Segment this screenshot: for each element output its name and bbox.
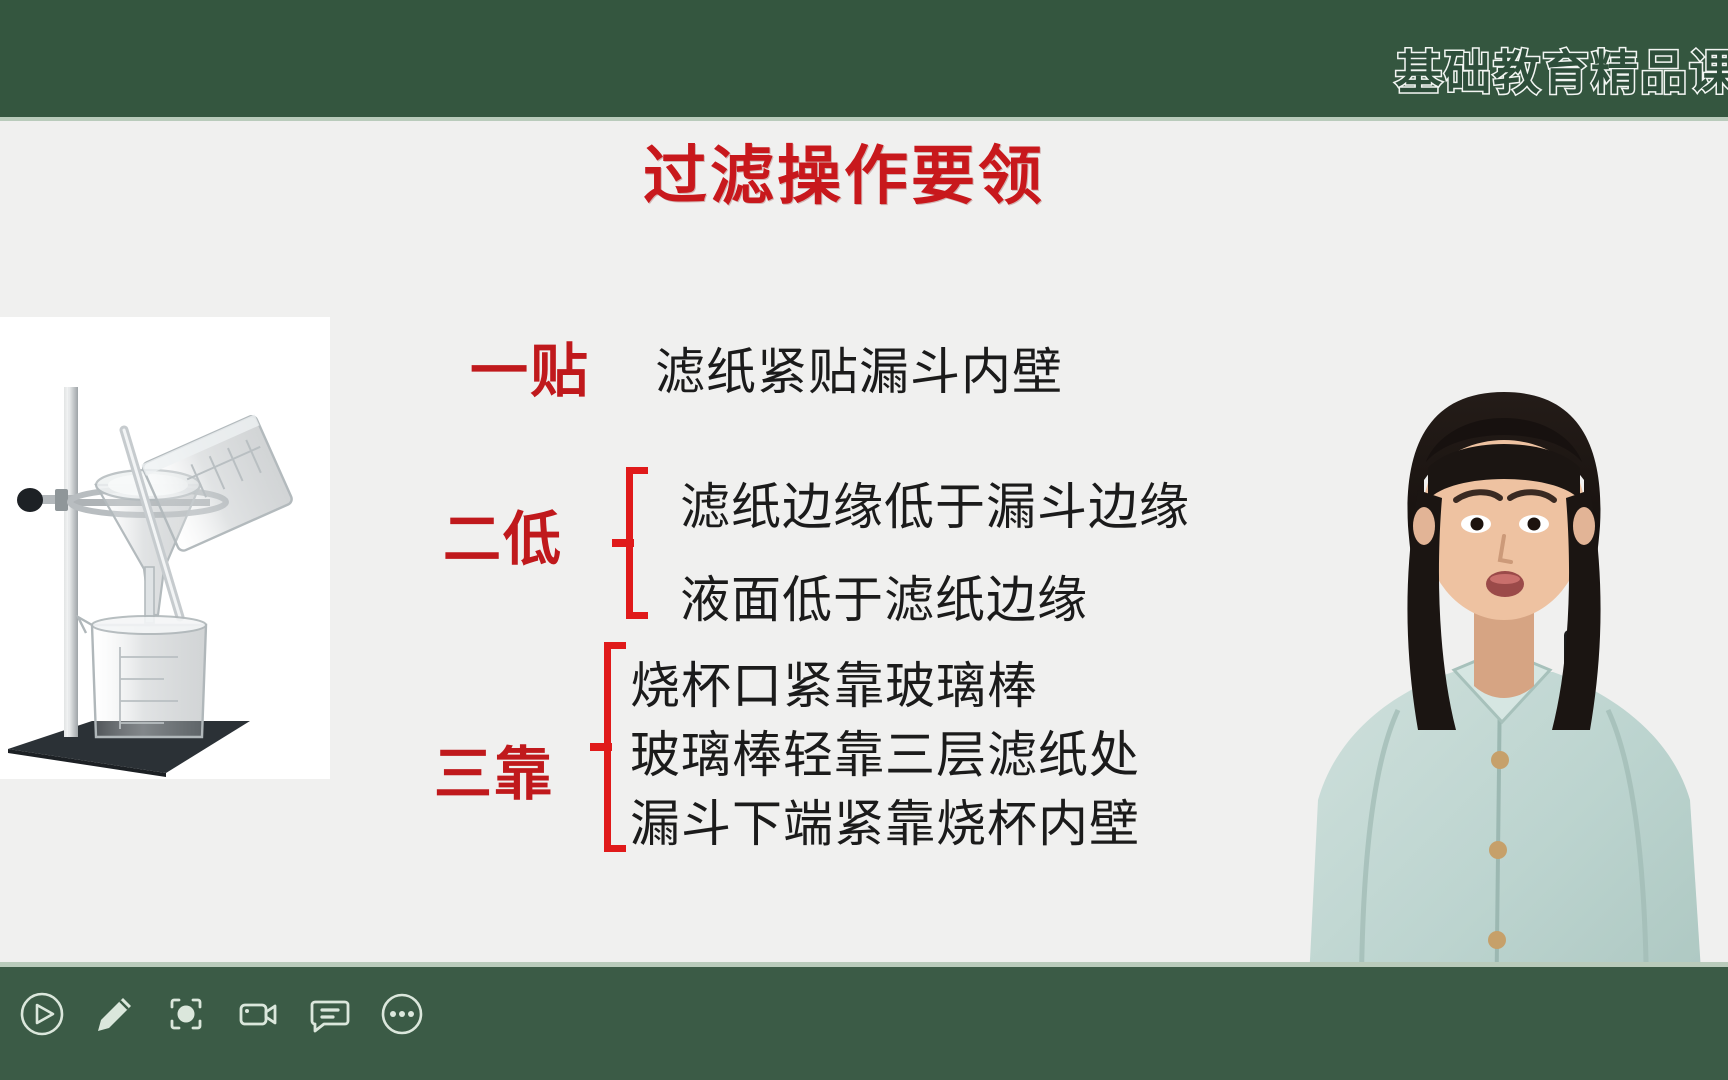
point-key-3: 三靠 — [434, 727, 554, 811]
video-button[interactable] — [230, 986, 286, 1042]
point-line-3-2: 玻璃棒轻靠三层滤纸处 — [630, 715, 1140, 787]
focus-icon — [162, 990, 210, 1038]
play-icon — [18, 990, 66, 1038]
comment-button[interactable] — [302, 986, 358, 1042]
slide-top-divider — [0, 117, 1728, 121]
brace-3 — [590, 642, 630, 852]
point-line-3-3: 漏斗下端紧靠烧杯内壁 — [630, 784, 1140, 856]
point-key-2: 二低 — [443, 492, 563, 576]
slide-player: 基础教育精品课 过滤操作要领 — [0, 0, 1728, 1080]
play-button[interactable] — [14, 986, 70, 1042]
brand-title: 基础教育精品课 — [1395, 34, 1728, 103]
comment-icon — [306, 990, 354, 1038]
pencil-button[interactable] — [86, 986, 142, 1042]
brace-2 — [612, 467, 652, 619]
point-key-1: 一贴 — [470, 324, 590, 408]
point-line-3-1: 烧杯口紧靠玻璃棒 — [630, 646, 1038, 718]
player-toolbar — [0, 962, 1728, 1080]
pencil-icon — [90, 990, 138, 1038]
focus-button[interactable] — [158, 986, 214, 1042]
top-header-bar: 基础教育精品课 — [0, 0, 1728, 117]
video-icon — [234, 990, 282, 1038]
more-icon — [378, 990, 426, 1038]
point-line-2-1: 滤纸边缘低于漏斗边缘 — [680, 467, 1190, 539]
more-button[interactable] — [374, 986, 430, 1042]
point-line-2-2: 液面低于滤纸边缘 — [680, 560, 1088, 632]
point-line-1-1: 滤纸紧贴漏斗内壁 — [655, 332, 1063, 404]
toolbar-top-divider — [0, 962, 1728, 967]
